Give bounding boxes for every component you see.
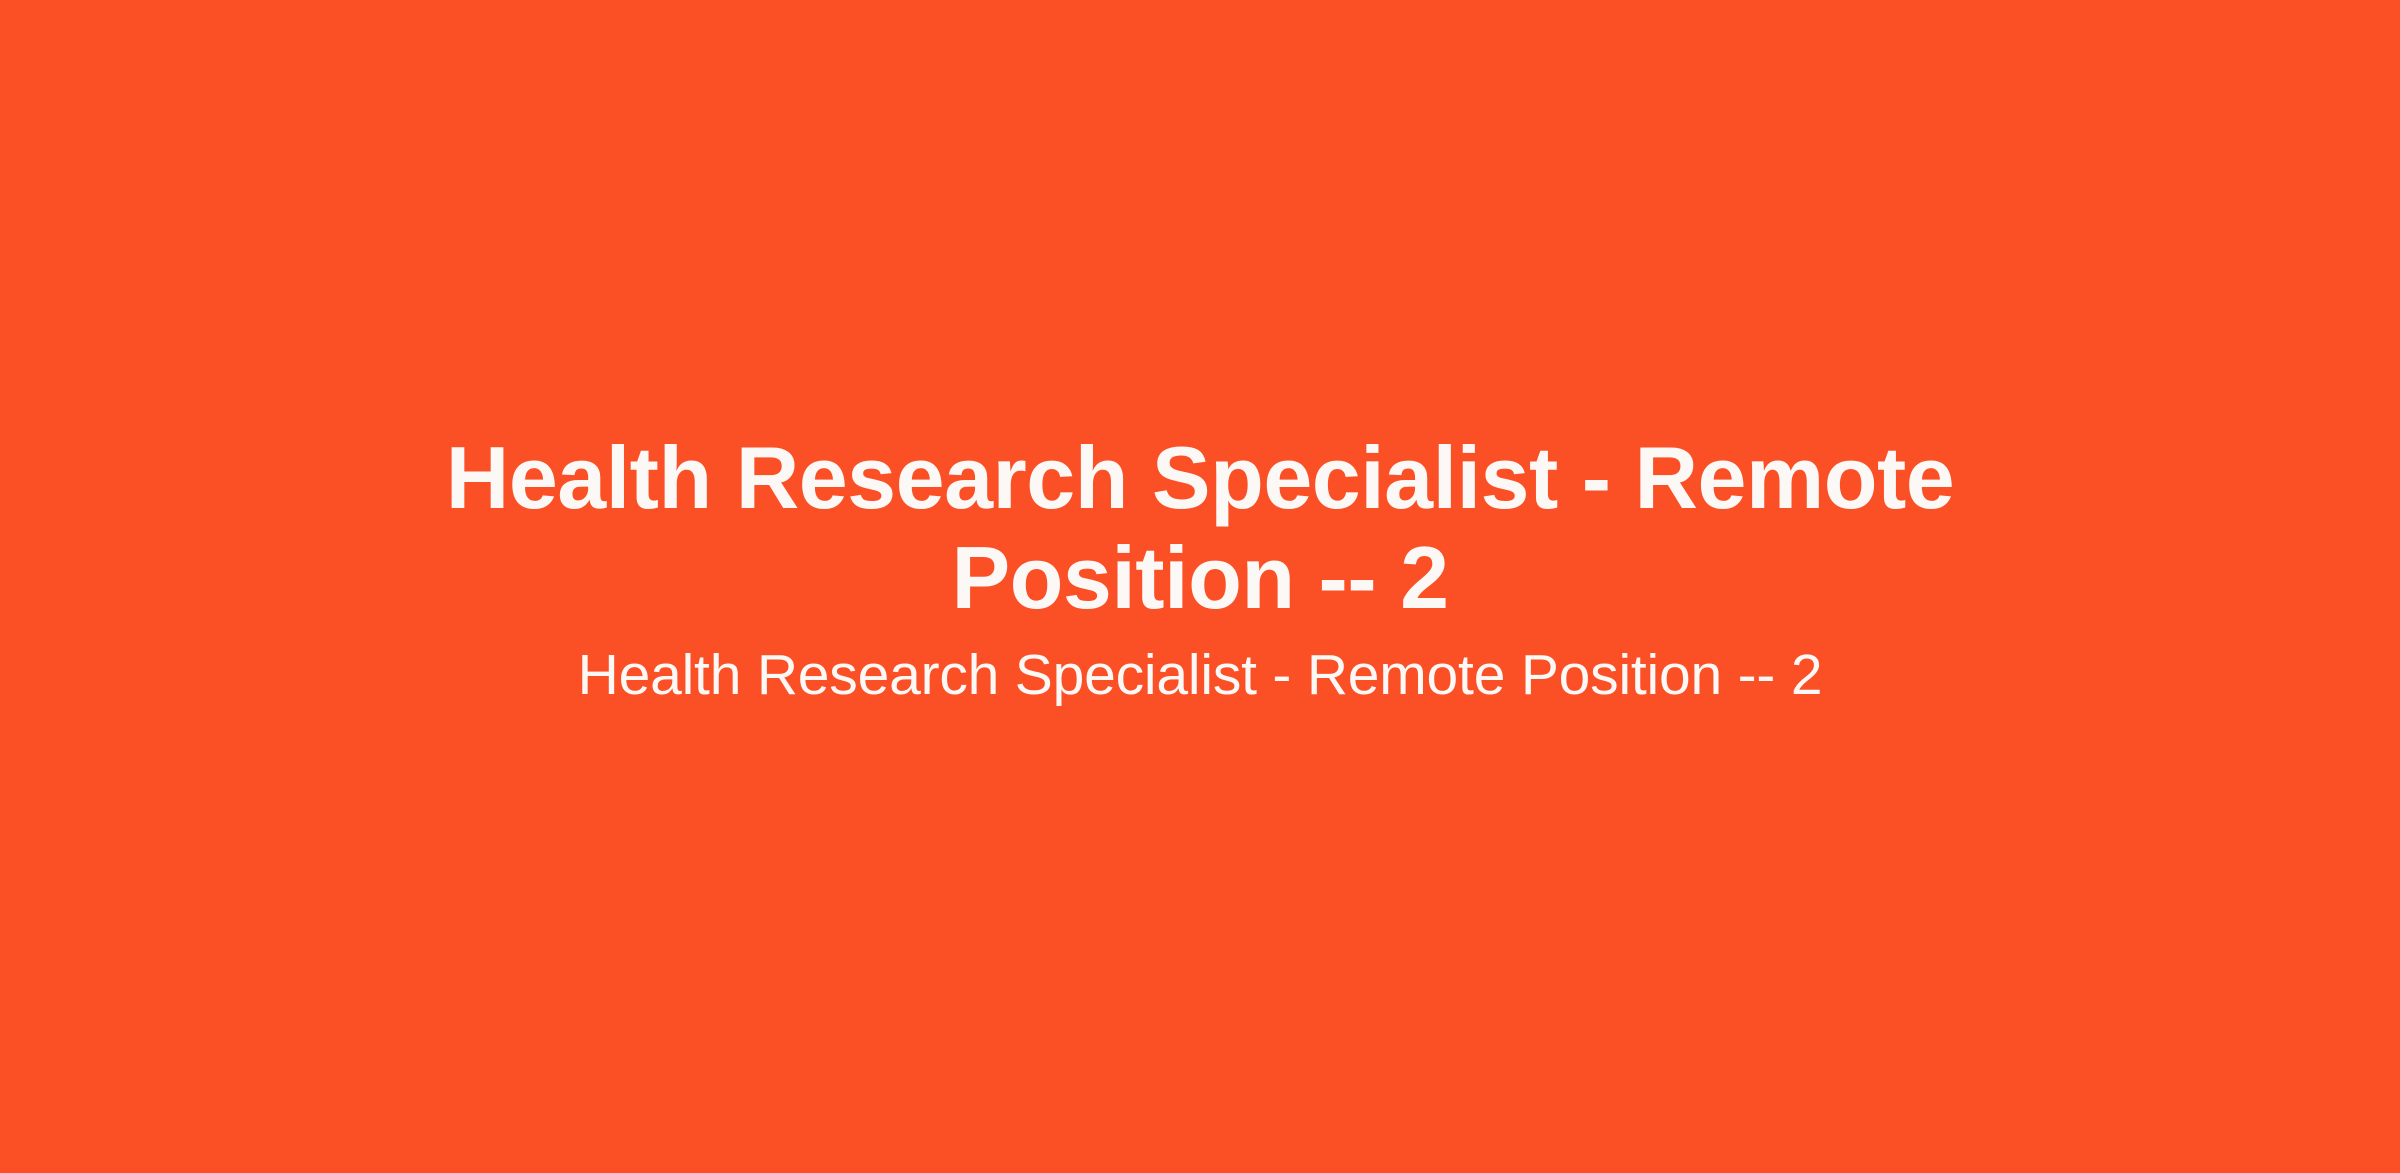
page-subtitle: Health Research Specialist - Remote Posi… <box>350 642 2050 709</box>
page-title: Health Research Specialist - Remote Posi… <box>350 428 2050 629</box>
hero-section: Health Research Specialist - Remote Posi… <box>350 428 2050 710</box>
